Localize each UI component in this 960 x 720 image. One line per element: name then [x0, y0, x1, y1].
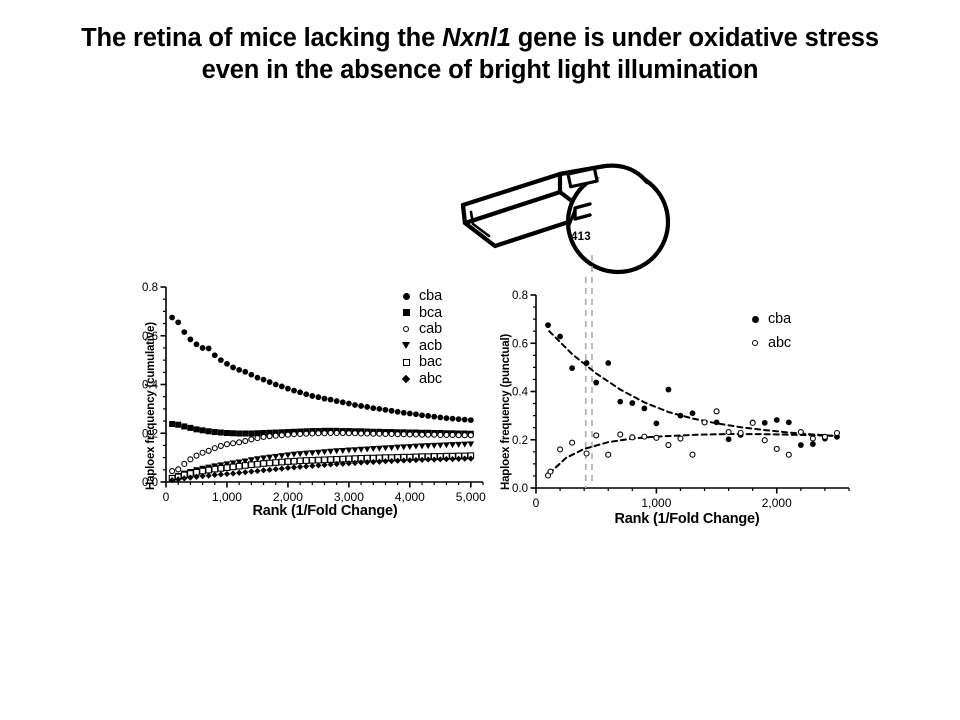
svg-text:0.0: 0.0 — [512, 483, 528, 495]
svg-text:0: 0 — [163, 490, 170, 504]
svg-text:5,000: 5,000 — [456, 490, 486, 504]
legend-item-cba: cba — [398, 288, 442, 305]
open-circle-icon — [398, 326, 414, 332]
svg-text:0.6: 0.6 — [142, 331, 158, 343]
legend-item-acb: acb — [398, 338, 442, 355]
svg-text:4,000: 4,000 — [395, 490, 425, 504]
slide-canvas: The retina of mice lacking the Nxnl1 gen… — [0, 0, 960, 720]
legend-item-abc: abc — [747, 331, 791, 355]
legend-label: abc — [419, 371, 442, 387]
filled-circle-icon — [747, 316, 763, 323]
open-circle-icon — [747, 340, 763, 346]
svg-text:0.0: 0.0 — [142, 477, 158, 489]
filled-triangle-down-icon — [398, 342, 414, 349]
chart-punctual-plot: 0.00.20.40.60.801,0002,000 — [492, 275, 867, 540]
svg-text:0.8: 0.8 — [512, 290, 528, 302]
svg-text:0.6: 0.6 — [512, 338, 528, 350]
open-square-icon — [398, 359, 414, 366]
legend-label: bac — [419, 354, 442, 370]
svg-text:0.2: 0.2 — [142, 428, 158, 440]
svg-text:0.4: 0.4 — [142, 380, 159, 392]
title-line2: even in the absence of bright light illu… — [202, 56, 759, 84]
chart-cumulative-legend: cba bca cab acb bac abc — [398, 288, 442, 387]
legend-label: abc — [768, 335, 791, 351]
svg-text:0.4: 0.4 — [512, 387, 529, 399]
svg-text:1,000: 1,000 — [212, 490, 242, 504]
title-line1-post: gene is under oxidative stress — [511, 24, 879, 52]
filled-circle-icon — [398, 293, 414, 300]
svg-text:0.2: 0.2 — [512, 435, 528, 447]
svg-text:0.8: 0.8 — [142, 282, 158, 294]
legend-label: bca — [419, 305, 442, 321]
whistle-rank-label: 413 — [571, 231, 591, 243]
filled-square-icon — [398, 309, 414, 316]
legend-item-bca: bca — [398, 305, 442, 322]
whistle-icon — [455, 150, 670, 280]
legend-label: cab — [419, 321, 442, 337]
svg-text:3,000: 3,000 — [334, 490, 364, 504]
legend-label: cba — [419, 288, 442, 304]
page-title: The retina of mice lacking the Nxnl1 gen… — [24, 22, 936, 86]
svg-text:2,000: 2,000 — [273, 490, 303, 504]
svg-text:0: 0 — [533, 496, 540, 510]
filled-diamond-icon — [398, 376, 414, 382]
svg-text:1,000: 1,000 — [641, 496, 671, 510]
svg-text:2,000: 2,000 — [762, 496, 792, 510]
legend-item-cab: cab — [398, 321, 442, 338]
legend-item-abc: abc — [398, 371, 442, 388]
chart-punctual-legend: cba abc — [747, 307, 791, 355]
title-gene-name: Nxnl1 — [442, 24, 511, 52]
chart-cumulative: Haploex frequency (cumulative) Rank (1/F… — [135, 275, 495, 530]
legend-item-cba: cba — [747, 307, 791, 331]
title-line1-pre: The retina of mice lacking the — [81, 24, 442, 52]
legend-item-bac: bac — [398, 354, 442, 371]
legend-label: acb — [419, 338, 442, 354]
chart-punctual: Haploex frequency (punctual) Rank (1/Fol… — [492, 275, 867, 540]
legend-label: cba — [768, 311, 791, 327]
